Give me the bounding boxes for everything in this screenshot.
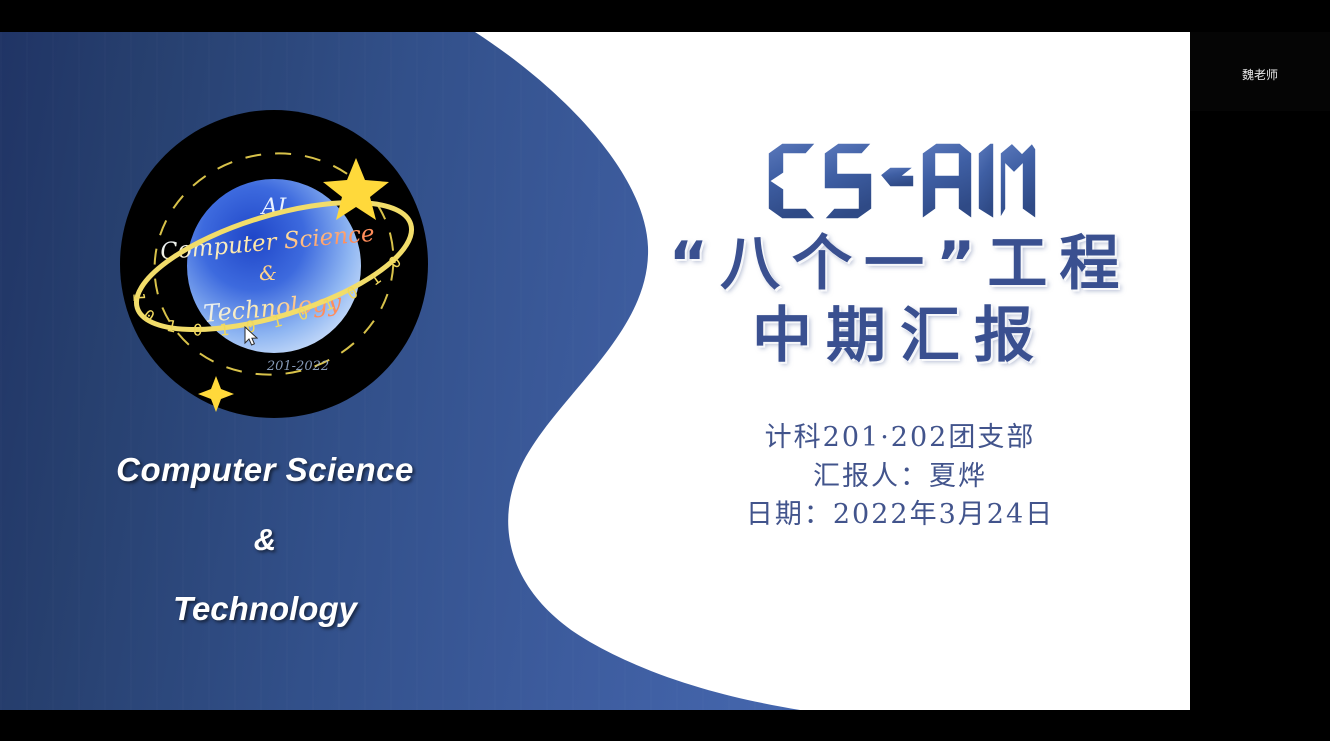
cs-aim-emblem: AI Computer Science & Technology 201-202… (118, 108, 430, 420)
participant-name-label: 魏老师 (1190, 66, 1330, 83)
meta-date: 日期：2022年3月24日 (620, 496, 1180, 534)
caption-line-1: Computer Science (40, 447, 490, 494)
cs-aim-wordmark-art (764, 143, 1036, 219)
emblem-text-amp: & (259, 261, 277, 285)
emblem-text-year: 201-2022 (266, 359, 329, 374)
emblem-artwork: AI Computer Science & Technology 201-202… (118, 108, 430, 420)
meta-presenter: 汇报人：夏烨 (620, 458, 1180, 496)
slide-title-line-2: 中期汇报 (620, 302, 1180, 372)
cs-aim-wordmark (620, 142, 1180, 220)
left-caption: Computer Science & Technology (40, 447, 490, 633)
meta-organization: 计科201·202团支部 (620, 419, 1180, 457)
slide-meta: 计科201·202团支部 汇报人：夏烨 日期：2022年3月24日 (620, 419, 1180, 534)
caption-line-3: Technology (40, 586, 490, 633)
participant-strip (1190, 0, 1330, 741)
caption-line-2: & (40, 518, 490, 562)
presentation-slide[interactable]: AI Computer Science & Technology 201-202… (0, 32, 1190, 710)
slide-title-line-1: “八个一”工程 (620, 230, 1180, 300)
letterbox-bottom (0, 710, 1190, 741)
slide-title-block: “八个一”工程 中期汇报 计科201·202团支部 汇报人：夏烨 日期：2022… (620, 142, 1180, 534)
screen-share-viewport: AI Computer Science & Technology 201-202… (0, 0, 1330, 741)
letterbox-top (0, 0, 1190, 32)
